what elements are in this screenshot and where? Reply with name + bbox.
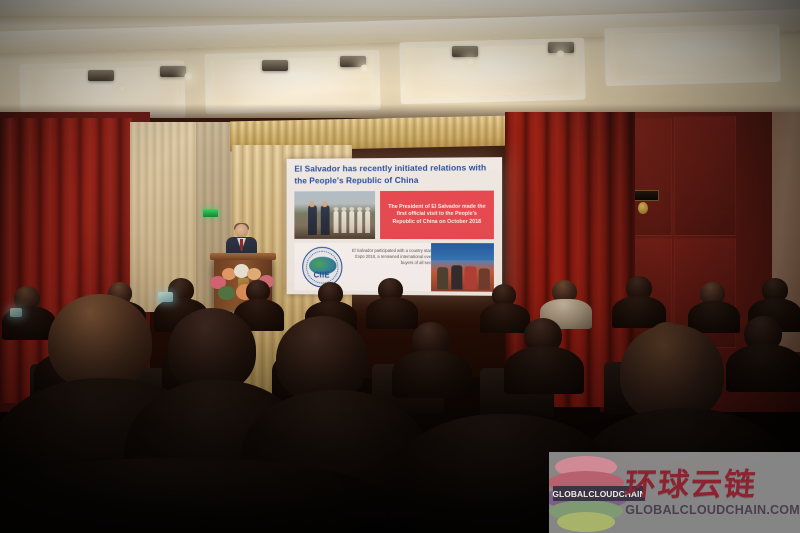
audience-shoulders bbox=[366, 297, 418, 329]
leader-figure bbox=[309, 201, 315, 207]
watermark-chinese-name: 环球云链 bbox=[624, 468, 800, 502]
ceiling-spotlight bbox=[360, 64, 369, 73]
phone-screen bbox=[10, 308, 22, 317]
watermark-overlay: GLOBALCLOUDCHAIN 环球云链 GLOBALCLOUDCHAIN.C… bbox=[549, 452, 800, 533]
audience-head-foreground bbox=[276, 316, 368, 402]
slide-callout-box: The President of El Salvador made the fi… bbox=[380, 191, 494, 240]
presenter-head bbox=[235, 224, 248, 238]
slide-photo-state-visit bbox=[294, 191, 375, 239]
honor-guard-figure bbox=[357, 211, 362, 233]
ceiling-spotlight bbox=[184, 72, 193, 81]
expo-banner bbox=[431, 243, 494, 260]
wall-plaque-badge bbox=[638, 202, 648, 214]
honor-guard-figure bbox=[365, 207, 370, 211]
ceiling-spotlight bbox=[556, 50, 565, 59]
leader-figure bbox=[321, 205, 330, 235]
ceiling-light-fixture bbox=[160, 66, 186, 77]
slide-title: El Salvador has recently initiated relat… bbox=[294, 162, 494, 186]
slide-callout-text: The President of El Salvador made the fi… bbox=[380, 204, 494, 226]
globalcloudchain-logo-icon: GLOBALCLOUDCHAIN bbox=[549, 452, 623, 533]
leader-figure bbox=[308, 205, 317, 235]
presenter-tie bbox=[240, 239, 243, 250]
honor-guard-figure bbox=[334, 211, 339, 233]
audience-shoulders bbox=[480, 303, 530, 333]
audience-head-foreground bbox=[48, 294, 152, 390]
honor-guard-figure bbox=[349, 207, 354, 211]
ceiling-light-fixture bbox=[88, 70, 114, 81]
logo-ellipse bbox=[557, 512, 615, 532]
honor-guard-figure bbox=[349, 211, 354, 233]
honor-guard-figure bbox=[357, 207, 362, 211]
honor-guard-figure bbox=[341, 207, 346, 211]
watermark-text-block: 环球云链 GLOBALCLOUDCHAIN.COM bbox=[623, 468, 800, 517]
honor-guard-figure bbox=[365, 211, 370, 233]
ceiling-spotlight bbox=[118, 84, 127, 93]
wall-panel-section bbox=[674, 116, 736, 236]
conference-photo-scene: El Salvador has recently initiated relat… bbox=[0, 0, 800, 533]
audience-shoulders bbox=[688, 301, 740, 333]
ceiling-light-fixture bbox=[262, 60, 288, 71]
watermark-url: GLOBALCLOUDCHAIN.COM bbox=[625, 503, 800, 517]
honor-guard-figure bbox=[334, 207, 339, 211]
coffered-ceiling bbox=[0, 0, 800, 128]
honor-guard-figure bbox=[341, 211, 346, 233]
exit-sign bbox=[203, 209, 218, 217]
audience-shoulders bbox=[504, 346, 584, 394]
audience-shoulders bbox=[726, 344, 800, 392]
leader-figure bbox=[322, 201, 328, 207]
ceiling-light-panel bbox=[604, 24, 780, 86]
ceiling-spotlight bbox=[466, 58, 475, 67]
audience-shoulders bbox=[392, 350, 472, 398]
ceiling-light-fixture bbox=[452, 46, 478, 57]
phone-screen bbox=[158, 292, 173, 302]
